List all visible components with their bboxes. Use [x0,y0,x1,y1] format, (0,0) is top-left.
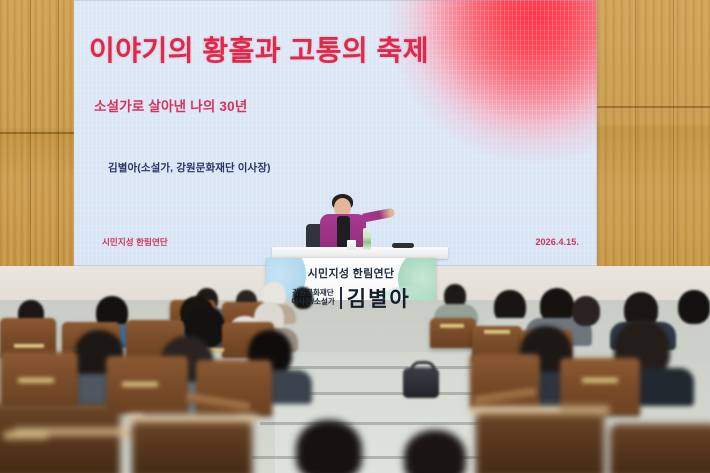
water-bottle-icon [363,228,371,250]
banner-divider [340,287,342,309]
wall-panel-left [0,0,74,302]
banner-role: 강원문화재단 이사장/소설가 [291,289,334,307]
lecture-hall-screenshot: 이야기의 황홀과 고통의 축제 소설가로 살아낸 나의 30년 김별아(소설가,… [0,0,710,473]
aisle-step [270,366,480,369]
podium-banner: 시민지성 한림연단 강원문화재단 이사장/소설가 김별아 [266,258,436,314]
slide-title: 이야기의 황홀과 고통의 축제 [89,29,429,69]
banner-heading: 시민지성 한림연단 [266,265,436,281]
slide-subtitle: 소설가로 살아낸 나의 30년 [94,95,247,115]
slide-date: 2026.4.15. [535,237,579,247]
banner-name-row: 강원문화재단 이사장/소설가 김별아 [266,283,436,313]
wall-panel-right [597,0,710,307]
slide-organization: 시민지성 한림연단 [102,236,168,248]
banner-speaker-name: 김별아 [347,283,411,313]
floor-bag [403,368,439,398]
paper-cup-icon [347,240,356,250]
aisle-step [260,422,490,425]
microphone-icon [392,243,414,248]
slide-presenter-credit: 김별아(소설가, 강원문화재단 이사장) [108,160,271,175]
